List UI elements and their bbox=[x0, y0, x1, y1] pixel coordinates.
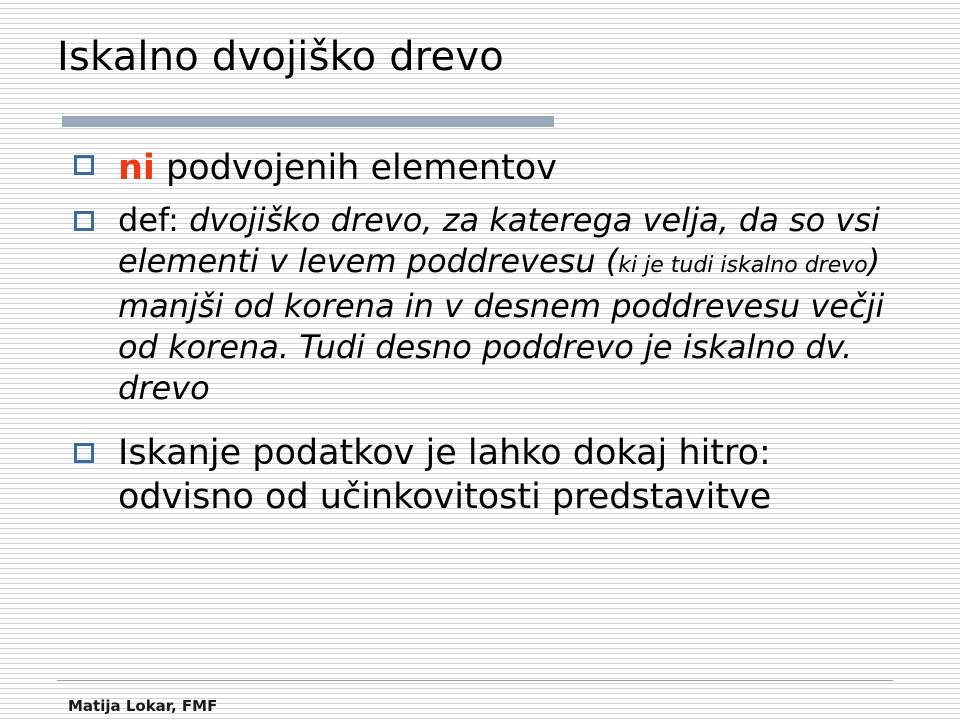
footer-divider bbox=[57, 680, 893, 681]
bullet-text: ni podvojenih elementov bbox=[118, 148, 557, 188]
slide-body: ni podvojenih elementov def: dvojiško dr… bbox=[70, 146, 910, 519]
bullet-text: def: dvojiško drevo, za katerega velja, … bbox=[118, 201, 884, 407]
bullet-remainder: podvojenih elementov bbox=[155, 148, 557, 188]
list-item: def: dvojiško drevo, za katerega velja, … bbox=[70, 200, 910, 409]
title-accent-bar bbox=[62, 116, 554, 127]
list-item: Iskanje podatkov je lahko dokaj hitro: o… bbox=[70, 431, 910, 519]
slide-canvas: Iskalno dvojiško drevo ni podvojenih ele… bbox=[0, 0, 960, 720]
title-block: Iskalno dvojiško drevo bbox=[57, 33, 917, 81]
highlight-keyword: ni bbox=[118, 148, 155, 188]
bullet-text: Iskanje podatkov je lahko dokaj hitro: o… bbox=[118, 433, 771, 517]
hollow-square-bullet-icon bbox=[74, 211, 94, 231]
definition-label: def: bbox=[118, 201, 189, 239]
hollow-square-bullet-icon bbox=[74, 155, 94, 175]
page-title: Iskalno dvojiško drevo bbox=[57, 33, 917, 81]
footer-author: Matija Lokar, FMF bbox=[68, 697, 217, 715]
definition-parenthetical: ki je tudi iskalno drevo bbox=[618, 253, 867, 278]
hollow-square-bullet-icon bbox=[74, 443, 94, 463]
list-item: ni podvojenih elementov bbox=[70, 146, 910, 190]
